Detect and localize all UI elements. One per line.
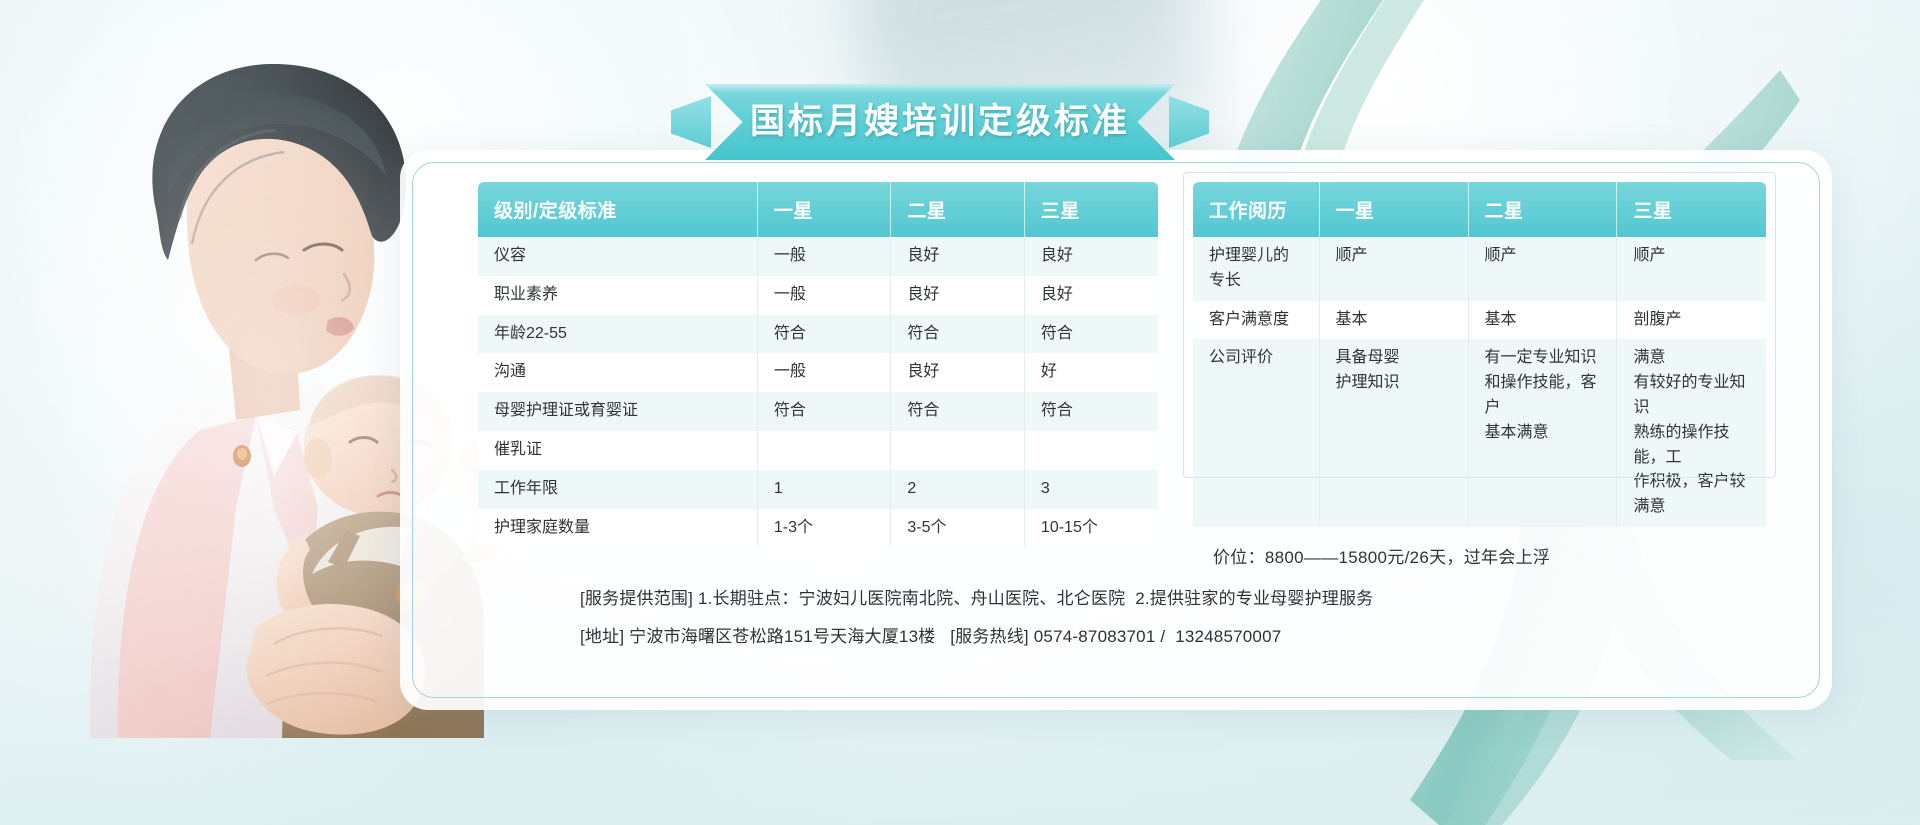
cell-one-star	[757, 431, 891, 470]
table-row: 护理家庭数量 1-3个 3-5个 10-15个	[478, 509, 1158, 548]
cell-two-star: 顺产	[1468, 237, 1617, 301]
cell-criteria: 工作年限	[478, 470, 757, 509]
cell-one-star: 一般	[757, 276, 891, 315]
cell-criteria: 沟通	[478, 353, 757, 392]
table-row: 公司评价 具备母婴 护理知识 有一定专业知识 和操作技能，客户 基本满意 满意 …	[1193, 339, 1766, 527]
cell-one-star: 1-3个	[757, 509, 891, 548]
table-row: 护理婴儿的专长 顺产 顺产 顺产	[1193, 237, 1766, 301]
table-row: 工作年限 1 2 3	[478, 470, 1158, 509]
col-header-one-star: 一星	[1319, 182, 1468, 237]
cell-two-star: 3-5个	[891, 509, 1025, 548]
table-row: 沟通 一般 良好 好	[478, 353, 1158, 392]
col-header-three-star: 三星	[1617, 182, 1766, 237]
work-experience-table: 工作阅历 一星 二星 三星 护理婴儿的专长 顺产 顺产 顺产 客户满意度	[1193, 182, 1766, 527]
cell-criteria: 催乳证	[478, 431, 757, 470]
cell-two-star	[891, 431, 1025, 470]
table-row: 年龄22-55 符合 符合 符合	[478, 315, 1158, 354]
service-scope-line: [服务提供范围] 1.长期驻点：宁波妇儿医院南北院、舟山医院、北仑医院 2.提供…	[580, 580, 1373, 618]
cell-criteria: 母婴护理证或育婴证	[478, 392, 757, 431]
cell-two-star: 符合	[891, 315, 1025, 354]
table-row: 职业素养 一般 良好 良好	[478, 276, 1158, 315]
table-header-row: 工作阅历 一星 二星 三星	[1193, 182, 1766, 237]
cell-three-star: 良好	[1024, 276, 1158, 315]
cell-three-star: 良好	[1024, 237, 1158, 276]
table-row: 仪容 一般 良好 良好	[478, 237, 1158, 276]
cell-one-star: 基本	[1319, 301, 1468, 340]
table-row: 客户满意度 基本 基本 剖腹产	[1193, 301, 1766, 340]
cell-three-star: 好	[1024, 353, 1158, 392]
work-experience-table-head: 工作阅历 一星 二星 三星	[1193, 182, 1766, 237]
cell-three-star: 3	[1024, 470, 1158, 509]
grading-standard-table-body: 仪容 一般 良好 良好 职业素养 一般 良好 良好 年龄22-55 符合	[478, 237, 1158, 547]
cell-criteria: 职业素养	[478, 276, 757, 315]
table-row: 催乳证	[478, 431, 1158, 470]
cell-one-star: 一般	[757, 237, 891, 276]
cell-one-star: 1	[757, 470, 891, 509]
grading-standard-table-head: 级别/定级标准 一星 二星 三星	[478, 182, 1158, 237]
cell-two-star: 良好	[891, 353, 1025, 392]
cell-criteria: 年龄22-55	[478, 315, 757, 354]
cell-three-star: 符合	[1024, 392, 1158, 431]
col-header-experience: 工作阅历	[1193, 182, 1319, 237]
cell-one-star: 顺产	[1319, 237, 1468, 301]
col-header-three-star: 三星	[1024, 182, 1158, 237]
cell-two-star: 基本	[1468, 301, 1617, 340]
cell-experience: 客户满意度	[1193, 301, 1319, 340]
cell-three-star: 10-15个	[1024, 509, 1158, 548]
cell-two-star: 良好	[891, 276, 1025, 315]
work-experience-table-body: 护理婴儿的专长 顺产 顺产 顺产 客户满意度 基本 基本 剖腹产 公司评价 具备…	[1193, 237, 1766, 527]
cell-three-star: 剖腹产	[1617, 301, 1766, 340]
cell-experience: 公司评价	[1193, 339, 1319, 527]
cell-three-star: 满意 有较好的专业知识 熟练的操作技能，工 作积极，客户较满意	[1617, 339, 1766, 527]
cell-two-star: 符合	[891, 392, 1025, 431]
footer-info: [服务提供范围] 1.长期驻点：宁波妇儿医院南北院、舟山医院、北仑医院 2.提供…	[580, 580, 1373, 657]
cell-three-star: 顺产	[1617, 237, 1766, 301]
cell-three-star: 符合	[1024, 315, 1158, 354]
banner-advertisement: 国标月嫂培训定级标准 级别/定级标准 一星 二星 三星	[0, 0, 1920, 825]
banner-title: 国标月嫂培训定级标准	[705, 84, 1175, 160]
col-header-two-star: 二星	[891, 182, 1025, 237]
cell-criteria: 护理家庭数量	[478, 509, 757, 548]
col-header-two-star: 二星	[1468, 182, 1617, 237]
cell-one-star: 符合	[757, 392, 891, 431]
cell-one-star: 符合	[757, 315, 891, 354]
grading-standard-table: 级别/定级标准 一星 二星 三星 仪容 一般 良好 良好 职业素养	[478, 182, 1158, 547]
address-hotline-line: [地址] 宁波市海曙区苍松路151号天海大厦13楼 [服务热线] 0574-87…	[580, 618, 1373, 656]
col-header-criteria: 级别/定级标准	[478, 182, 757, 237]
cell-one-star: 具备母婴 护理知识	[1319, 339, 1468, 527]
cell-two-star: 2	[891, 470, 1025, 509]
col-header-one-star: 一星	[757, 182, 891, 237]
tables-container: 级别/定级标准 一星 二星 三星 仪容 一般 良好 良好 职业素养	[478, 182, 1766, 568]
title-banner: 国标月嫂培训定级标准	[705, 84, 1175, 160]
cell-two-star: 有一定专业知识 和操作技能，客户 基本满意	[1468, 339, 1617, 527]
table-header-row: 级别/定级标准 一星 二星 三星	[478, 182, 1158, 237]
table-row: 母婴护理证或育婴证 符合 符合 符合	[478, 392, 1158, 431]
grading-standard-table-block: 级别/定级标准 一星 二星 三星 仪容 一般 良好 良好 职业素养	[478, 182, 1158, 568]
price-note: 价位：8800——15800元/26天，过年会上浮	[1193, 543, 1766, 568]
work-experience-table-block: 工作阅历 一星 二星 三星 护理婴儿的专长 顺产 顺产 顺产 客户满意度	[1193, 182, 1766, 568]
cell-one-star: 一般	[757, 353, 891, 392]
cell-experience: 护理婴儿的专长	[1193, 237, 1319, 301]
cell-three-star	[1024, 431, 1158, 470]
cell-two-star: 良好	[891, 237, 1025, 276]
cell-criteria: 仪容	[478, 237, 757, 276]
